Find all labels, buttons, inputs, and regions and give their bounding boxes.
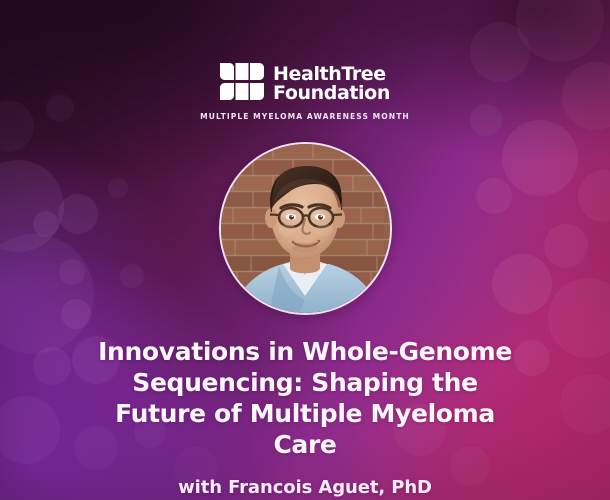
event-promo-poster: HealthTree Foundation MULTIPLE MYELOMA A… [0,0,610,500]
logo-name-line-1: HealthTree [273,65,390,84]
healthtree-logo-lockup: HealthTree Foundation MULTIPLE MYELOMA A… [200,63,410,121]
logo-name-line-2: Foundation [273,84,390,103]
healthtree-wordmark: HealthTree Foundation [273,65,390,103]
speaker-line: with Francois Aguet, PhD [178,477,432,498]
awareness-month-tagline: MULTIPLE MYELOMA AWARENESS MONTH [200,112,410,121]
healthtree-grid-mark-icon [220,63,264,104]
logo-row: HealthTree Foundation [220,63,390,104]
poster-content: HealthTree Foundation MULTIPLE MYELOMA A… [0,0,610,500]
speaker-portrait-frame [219,142,392,315]
speaker-portrait-photo [221,144,390,313]
event-title: Innovations in Whole-Genome Sequencing: … [90,336,520,460]
